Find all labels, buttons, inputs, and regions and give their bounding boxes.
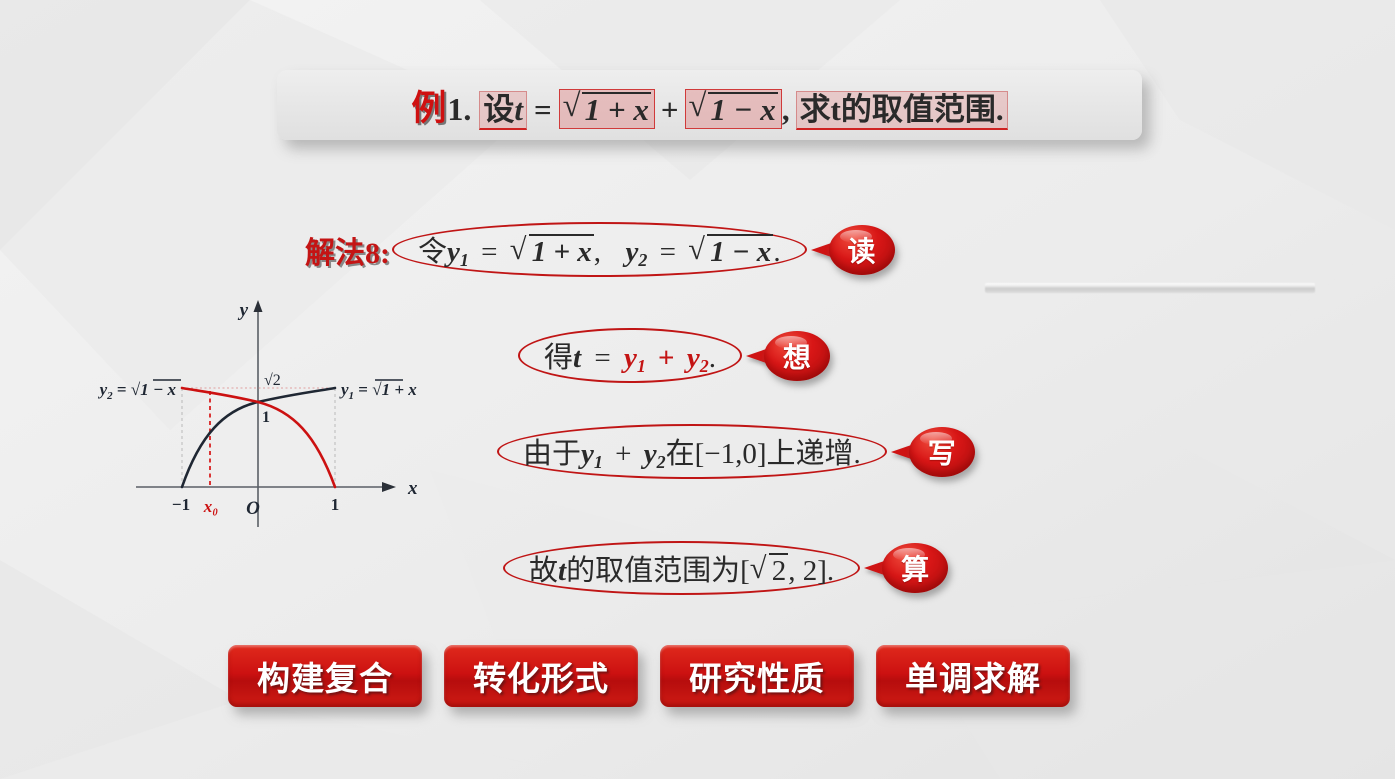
step-1-label: 解法8:	[305, 228, 390, 272]
step-1-content: 令y1 = 1 + x, y2 = 1 − x.	[418, 236, 781, 268]
step-4-ellipse-group: 故t的取值范围为[2, 2].	[503, 541, 860, 595]
step-2-end: .	[709, 342, 716, 374]
curve-label-y2: y2 = √1 − x	[98, 380, 181, 402]
step-1-y2-sub: 2	[638, 250, 647, 270]
step-2-plus: +	[653, 342, 680, 374]
step-2-ellipse-group: 得t = y1 + y2.	[518, 328, 742, 383]
step-3-lead: 由于	[523, 438, 581, 470]
step-2-content: 得t = y1 + y2.	[544, 342, 716, 374]
x-tick-x0: x₀	[203, 497, 219, 516]
title-banner: 例 1. 设t = 1 + x + 1 − x , 求t的取值范围.	[277, 70, 1142, 140]
title-highlight-radical-2: 1 − x	[685, 89, 782, 129]
step-3-y1-sub: 1	[594, 452, 603, 472]
radical-1: 1 + x	[563, 92, 651, 125]
step-4-mid: 的取值范围为	[566, 555, 740, 587]
step-4-radicand: 2	[770, 555, 789, 588]
badge-bubble-think: 想	[764, 331, 830, 381]
step-1-radical-1: 1 + x	[510, 234, 594, 269]
title-plus: +	[655, 92, 685, 128]
x-tick-minus-1: −1	[172, 495, 190, 514]
button-transform-form-label: 转化形式	[473, 652, 609, 700]
step-4-radical: 2	[750, 553, 789, 588]
x-tick-1: 1	[331, 495, 340, 514]
button-bar: 构建复合 转化形式 研究性质 单调求解	[228, 645, 1070, 707]
step-2-y1: y	[624, 342, 637, 374]
radicand-2: 1 − x	[709, 94, 778, 125]
example-number: 1.	[447, 91, 471, 128]
step-3-mid: 在[−1,0]上递增.	[666, 438, 861, 470]
step-4-bracket-open: [	[740, 555, 750, 587]
badge-think[interactable]: 想	[746, 331, 830, 381]
badge-read[interactable]: 读	[811, 225, 895, 275]
step-1-y2: y	[626, 236, 639, 268]
step-4: 故t的取值范围为[2, 2]. 算	[503, 541, 948, 595]
step-4-range-tail: , 2	[788, 555, 817, 587]
y-tick-1: 1	[262, 409, 270, 426]
title-equals: =	[527, 92, 559, 128]
step-1: 解法8: 令y1 = 1 + x, y2 = 1 − x. 读	[305, 222, 895, 277]
step-3-ellipse-group: 由于y1 + y2在[−1,0]上递增.	[497, 424, 887, 479]
step-1-radical-2: 1 − x	[688, 234, 773, 269]
origin-label: O	[246, 498, 260, 519]
step-2-y1-sub: 1	[637, 356, 646, 376]
step-3-content: 由于y1 + y2在[−1,0]上递增.	[523, 438, 861, 470]
badge-write-label: 写	[928, 432, 956, 472]
badge-compute-label: 算	[901, 548, 929, 588]
step-3-plus: +	[610, 438, 636, 470]
step-2: 得t = y1 + y2. 想	[518, 328, 830, 383]
y-axis-arrow-icon	[254, 300, 263, 312]
y-tick-sqrt2: √2	[264, 372, 281, 389]
button-study-properties-label: 研究性质	[689, 652, 825, 700]
step-2-t: t	[573, 342, 581, 374]
step-4-t: t	[558, 555, 566, 587]
step-1-radicand-2: 1 − x	[708, 236, 773, 269]
step-3: 由于y1 + y2在[−1,0]上递增. 写	[497, 424, 975, 479]
badge-think-label: 想	[783, 336, 811, 376]
step-2-y2-sub: 2	[700, 356, 709, 376]
title-highlight-set-t: 设t	[479, 91, 527, 130]
graph-svg: y x −1 x₀ O 1 √2 1 y2 = √1 − x y1 = √1 +…	[48, 292, 468, 537]
title-row: 例 1. 设t = 1 + x + 1 − x , 求t的取值范围.	[411, 80, 1007, 131]
badge-bubble-write: 写	[909, 427, 975, 477]
button-construct-composite-label: 构建复合	[257, 652, 393, 700]
button-monotonic-solve-label: 单调求解	[905, 652, 1041, 700]
step-2-lead: 得	[544, 342, 573, 374]
function-graph: y x −1 x₀ O 1 √2 1 y2 = √1 − x y1 = √1 +…	[48, 292, 468, 537]
svg-text:y1 = √1 + x: y1 = √1 + x	[339, 380, 417, 402]
button-construct-composite[interactable]: 构建复合	[228, 645, 422, 707]
step-1-y1: y	[447, 236, 460, 268]
radical-2: 1 − x	[689, 92, 778, 125]
y-axis-label: y	[238, 300, 249, 321]
button-monotonic-solve[interactable]: 单调求解	[876, 645, 1070, 707]
step-1-eq2: =	[655, 236, 681, 268]
step-2-y2: y	[687, 342, 700, 374]
badge-write[interactable]: 写	[891, 427, 975, 477]
step-4-content: 故t的取值范围为[2, 2].	[529, 555, 834, 587]
step-1-end: .	[773, 236, 780, 268]
title-var-t: t	[514, 92, 523, 127]
button-transform-form[interactable]: 转化形式	[444, 645, 638, 707]
step-2-eq: =	[588, 342, 616, 374]
badge-read-label: 读	[848, 230, 876, 270]
button-study-properties[interactable]: 研究性质	[660, 645, 854, 707]
badge-bubble-compute: 算	[882, 543, 948, 593]
step-3-y1: y	[581, 438, 594, 470]
curve-label-y1: y1 = √1 + x	[339, 380, 417, 402]
step-4-lead: 故	[529, 555, 558, 587]
badge-bubble-read: 读	[829, 225, 895, 275]
x-axis-arrow-icon	[382, 482, 396, 492]
title-highlight-question: 求t的取值范围.	[796, 91, 1008, 130]
title-comma: ,	[782, 92, 790, 128]
step-3-y2: y	[644, 438, 657, 470]
svg-text:y2 = √1 − x: y2 = √1 − x	[98, 380, 177, 402]
step-4-bracket-close: ].	[817, 555, 834, 587]
step-1-eq: =	[476, 236, 502, 268]
step-1-y1-sub: 1	[460, 250, 469, 270]
step-1-radicand-1: 1 + x	[530, 236, 594, 269]
step-1-sep: ,	[594, 236, 601, 268]
step-1-ellipse-group: 令y1 = 1 + x, y2 = 1 − x.	[392, 222, 807, 277]
step-3-y2-sub: 2	[657, 452, 666, 472]
radicand-1: 1 + x	[583, 94, 651, 125]
step-1-lead: 令	[418, 236, 447, 268]
x-axis-label: x	[407, 478, 418, 499]
title-highlight-radical-1: 1 + x	[559, 89, 655, 129]
title-set-char: 设	[483, 92, 514, 127]
badge-compute[interactable]: 算	[864, 543, 948, 593]
decorative-shadow-bar	[985, 283, 1315, 293]
example-label: 例	[411, 80, 446, 131]
